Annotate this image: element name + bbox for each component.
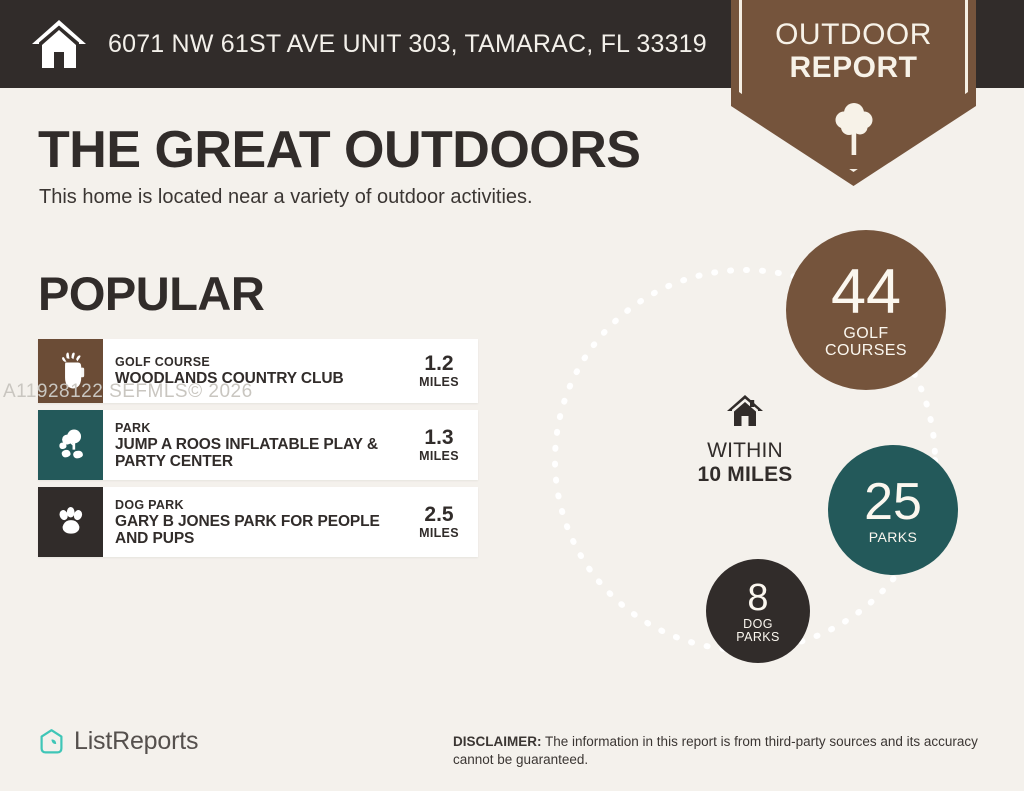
outdoor-report-badge: OUTDOOR REPORT: [731, 0, 976, 186]
within-10-miles-infographic: WITHIN 10 MILES 44 GOLF COURSES 25 PARKS…: [540, 228, 1010, 688]
poi-name: JUMP A ROOS INFLATABLE PLAY & PARTY CENT…: [115, 436, 402, 470]
stat-value: 8: [747, 579, 768, 617]
poi-category: PARK: [115, 421, 402, 436]
poi-distance: 2.5 MILES: [406, 487, 478, 557]
badge-title-line1: OUTDOOR: [731, 18, 976, 51]
within-label-line2: 10 MILES: [660, 463, 830, 487]
stat-value: 44: [831, 261, 901, 324]
poi-distance-value: 1.3: [424, 427, 453, 449]
popular-heading: POPULAR: [38, 266, 264, 321]
list-item-text: GOLF COURSE WOODLANDS COUNTRY CLUB: [103, 339, 406, 403]
poi-distance-value: 1.2: [424, 353, 453, 375]
within-label-line1: WITHIN: [660, 439, 830, 463]
poi-distance-unit: MILES: [419, 526, 459, 540]
stat-label-line2: PARKS: [736, 631, 779, 644]
stat-circle-parks[interactable]: 25 PARKS: [828, 445, 958, 575]
listreports-house-icon: [38, 728, 65, 755]
listreports-wordmark: ListReports: [74, 727, 198, 756]
stat-label-line1: DOG: [736, 618, 779, 631]
golf-bag-icon: [38, 339, 103, 403]
stat-value: 25: [864, 476, 922, 528]
stat-label-line1: GOLF: [825, 326, 907, 342]
stat-circle-golf-courses[interactable]: 44 GOLF COURSES: [786, 230, 946, 390]
disclaimer: DISCLAIMER: The information in this repo…: [453, 733, 988, 769]
poi-distance: 1.2 MILES: [406, 339, 478, 403]
home-icon: [726, 394, 764, 427]
poi-name: GARY B JONES PARK FOR PEOPLE AND PUPS: [115, 513, 402, 547]
home-icon: [30, 18, 88, 70]
stat-label: DOG PARKS: [736, 618, 779, 644]
poi-distance-unit: MILES: [419, 375, 459, 389]
page-title: THE GREAT OUTDOORS: [38, 120, 640, 180]
stat-circle-dog-parks[interactable]: 8 DOG PARKS: [706, 559, 810, 663]
paw-print-icon: [38, 487, 103, 557]
park-trees-icon: [38, 410, 103, 480]
poi-name: WOODLANDS COUNTRY CLUB: [115, 370, 402, 387]
list-item[interactable]: DOG PARK GARY B JONES PARK FOR PEOPLE AN…: [38, 487, 478, 557]
tree-icon: [830, 100, 878, 156]
stat-label-line2: COURSES: [825, 343, 907, 359]
popular-list: GOLF COURSE WOODLANDS COUNTRY CLUB 1.2 M…: [38, 339, 478, 564]
poi-category: GOLF COURSE: [115, 355, 402, 370]
stat-label: GOLF COURSES: [825, 326, 907, 359]
poi-distance-value: 2.5: [424, 504, 453, 526]
poi-distance-unit: MILES: [419, 449, 459, 463]
property-address: 6071 NW 61ST AVE UNIT 303, TAMARAC, FL 3…: [108, 30, 707, 59]
list-item-text: DOG PARK GARY B JONES PARK FOR PEOPLE AN…: [103, 487, 406, 557]
within-10-miles-label: WITHIN 10 MILES: [660, 394, 830, 487]
stat-label: PARKS: [869, 530, 917, 544]
listreports-logo[interactable]: ListReports: [38, 727, 198, 756]
list-item-text: PARK JUMP A ROOS INFLATABLE PLAY & PARTY…: [103, 410, 406, 480]
list-item[interactable]: PARK JUMP A ROOS INFLATABLE PLAY & PARTY…: [38, 410, 478, 480]
list-item[interactable]: GOLF COURSE WOODLANDS COUNTRY CLUB 1.2 M…: [38, 339, 478, 403]
badge-title-line2: REPORT: [731, 51, 976, 84]
poi-distance: 1.3 MILES: [406, 410, 478, 480]
disclaimer-label: DISCLAIMER:: [453, 734, 542, 749]
stat-label-line1: PARKS: [869, 530, 917, 544]
badge-title: OUTDOOR REPORT: [731, 18, 976, 84]
poi-category: DOG PARK: [115, 498, 402, 513]
page-subtitle: This home is located near a variety of o…: [39, 186, 533, 209]
